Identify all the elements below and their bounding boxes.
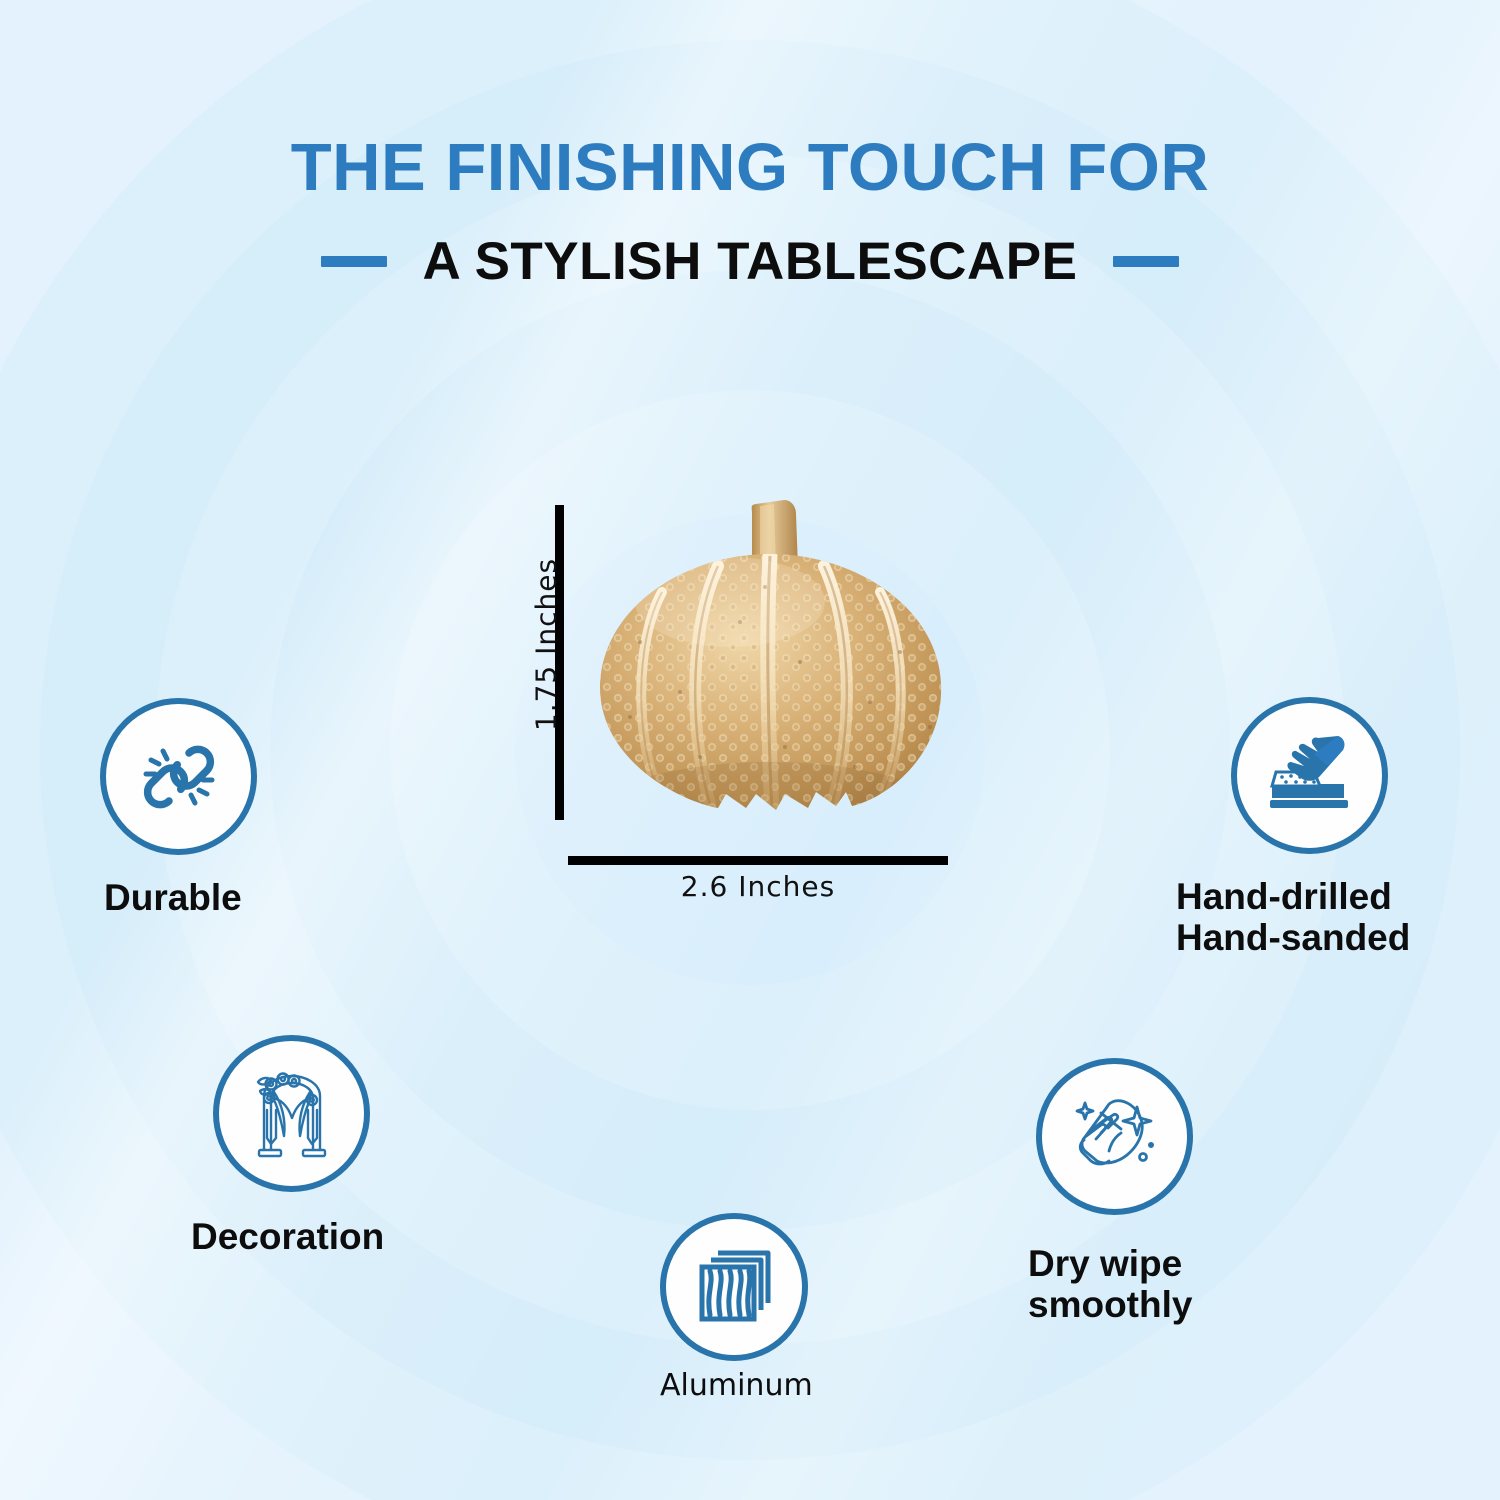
- wiping-cloth-icon: [1063, 1085, 1167, 1189]
- subtitle-row: A STYLISH TABLESCAPE: [0, 231, 1500, 292]
- sanding-hand-icon: [1258, 724, 1362, 828]
- chain-link-icon: [129, 727, 229, 827]
- dry-wipe-icon-circle[interactable]: [1036, 1058, 1193, 1215]
- floral-arch-icon: [240, 1062, 344, 1166]
- feature-hand-drilled-sanded[interactable]: Hand-drilled Hand-sanded: [1231, 697, 1410, 959]
- hand-drilled-sanded-label: Hand-drilled Hand-sanded: [1176, 876, 1410, 959]
- durable-icon-circle[interactable]: [100, 698, 257, 855]
- dry-wipe-label: Dry wipe smoothly: [1028, 1243, 1193, 1326]
- aluminum-icon-circle[interactable]: [660, 1213, 808, 1361]
- durable-label: Durable: [104, 877, 257, 918]
- aluminum-label: Aluminum: [660, 1369, 808, 1403]
- feature-dry-wipe[interactable]: Dry wipe smoothly: [1036, 1058, 1193, 1326]
- page-subtitle: A STYLISH TABLESCAPE: [423, 231, 1078, 292]
- feature-decoration[interactable]: Decoration: [213, 1035, 384, 1257]
- width-measure-line: [568, 856, 948, 865]
- page-title: THE FINISHING TOUCH FOR: [0, 129, 1500, 206]
- pumpkin-product-image: [570, 492, 970, 857]
- feature-aluminum[interactable]: Aluminum: [660, 1213, 808, 1403]
- decoration-icon-circle[interactable]: [213, 1035, 370, 1192]
- metal-sheets-icon: [688, 1241, 780, 1333]
- pumpkin-texture: [570, 542, 970, 857]
- dash-left-icon: [321, 256, 387, 267]
- height-label: 1.75 Inches: [530, 550, 563, 740]
- decoration-label: Decoration: [191, 1216, 384, 1257]
- hand-sanded-icon-circle[interactable]: [1231, 697, 1388, 854]
- width-label: 2.6 Inches: [568, 870, 948, 903]
- feature-durable[interactable]: Durable: [100, 698, 257, 918]
- infographic-canvas: THE FINISHING TOUCH FOR A STYLISH TABLES…: [0, 0, 1500, 1500]
- product-dimension-block: 1.75 Inches 2.6 Inches: [498, 478, 1018, 908]
- dash-right-icon: [1113, 256, 1179, 267]
